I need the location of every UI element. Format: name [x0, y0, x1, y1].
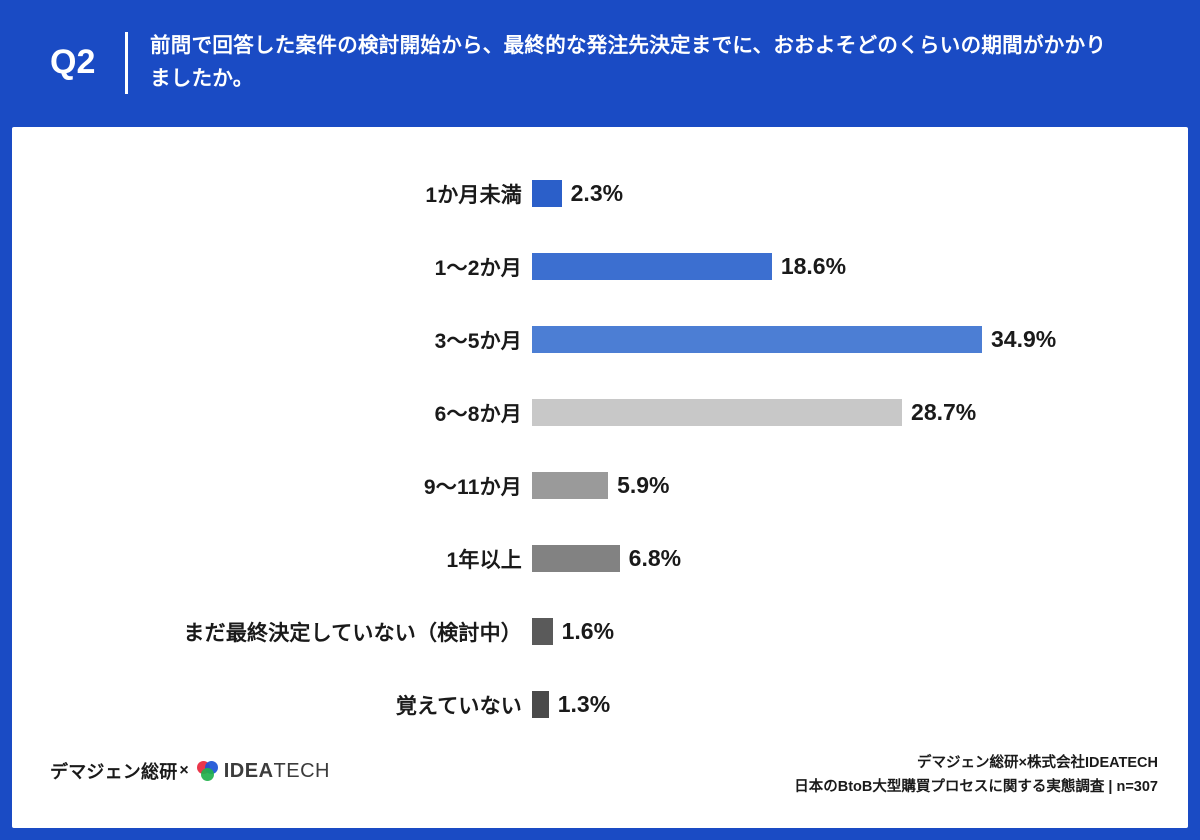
question-header: Q2 前問で回答した案件の検討開始から、最終的な発注先決定までに、おおよそどのく… [0, 0, 1200, 125]
ideatech-logo-text: IDEATECH [224, 760, 330, 783]
category-label: 3〜5か月 [12, 325, 532, 355]
bar-container: 6.8% [532, 545, 1188, 572]
bar [532, 399, 902, 426]
bar [532, 545, 620, 572]
bar [532, 618, 553, 645]
bar-value-label: 34.9% [991, 326, 1056, 353]
bar-container: 1.6% [532, 618, 1188, 645]
bar-container: 1.3% [532, 691, 1188, 718]
bar-value-label: 1.6% [562, 618, 614, 645]
chart-card: 1か月未満2.3%1〜2か月18.6%3〜5か月34.9%6〜8か月28.7%9… [12, 127, 1188, 828]
bar-value-label: 6.8% [629, 545, 681, 572]
bar [532, 253, 772, 280]
bar-value-label: 5.9% [617, 472, 669, 499]
chart-row: 1〜2か月18.6% [12, 230, 1188, 303]
bar [532, 326, 982, 353]
chart-row: 6〜8か月28.7% [12, 376, 1188, 449]
credit-line-1: デマジェン総研×株式会社IDEATECH [794, 751, 1158, 776]
category-label: 1〜2か月 [12, 252, 532, 282]
bar-container: 28.7% [532, 399, 1188, 426]
header-divider [125, 32, 128, 94]
bar-value-label: 18.6% [781, 253, 846, 280]
bar-value-label: 28.7% [911, 399, 976, 426]
ideatech-logo-icon [197, 761, 218, 782]
chart-row: 9〜11か月5.9% [12, 449, 1188, 522]
bar [532, 691, 549, 718]
category-label: 1か月未満 [12, 179, 532, 209]
chart-row: まだ最終決定していない（検討中）1.6% [12, 595, 1188, 668]
category-label: 6〜8か月 [12, 398, 532, 428]
bar-value-label: 1.3% [558, 691, 610, 718]
bar-chart: 1か月未満2.3%1〜2か月18.6%3〜5か月34.9%6〜8か月28.7%9… [12, 149, 1188, 749]
bar-container: 18.6% [532, 253, 1188, 280]
bar-container: 5.9% [532, 472, 1188, 499]
bar [532, 180, 562, 207]
question-text: 前問で回答した案件の検討開始から、最終的な発注先決定までに、おおよそどのくらいの… [150, 30, 1110, 96]
chart-row: 1か月未満2.3% [12, 157, 1188, 230]
footer-multiply-symbol: × [179, 762, 188, 780]
category-label: 9〜11か月 [12, 471, 532, 501]
bar-value-label: 2.3% [571, 180, 623, 207]
footer-brand-name: デマジェン総研 [50, 758, 177, 784]
footer-credit: デマジェン総研×株式会社IDEATECH 日本のBtoB大型購買プロセスに関する… [794, 751, 1158, 800]
chart-row: 1年以上6.8% [12, 522, 1188, 595]
category-label: 覚えていない [12, 690, 532, 720]
bar [532, 472, 608, 499]
bar-container: 34.9% [532, 326, 1188, 353]
credit-line-2: 日本のBtoB大型購買プロセスに関する実態調査 | n=307 [794, 775, 1158, 800]
question-number: Q2 [50, 43, 125, 82]
chart-row: 覚えていない1.3% [12, 668, 1188, 741]
chart-row: 3〜5か月34.9% [12, 303, 1188, 376]
logo-bold-part: IDEA [224, 760, 274, 782]
slide-root: Q2 前問で回答した案件の検討開始から、最終的な発注先決定までに、おおよそどのく… [0, 0, 1200, 840]
footer-branding: デマジェン総研 × IDEATECH [50, 758, 330, 784]
logo-thin-part: TECH [274, 760, 330, 782]
bar-container: 2.3% [532, 180, 1188, 207]
category-label: まだ最終決定していない（検討中） [12, 617, 532, 647]
category-label: 1年以上 [12, 544, 532, 574]
